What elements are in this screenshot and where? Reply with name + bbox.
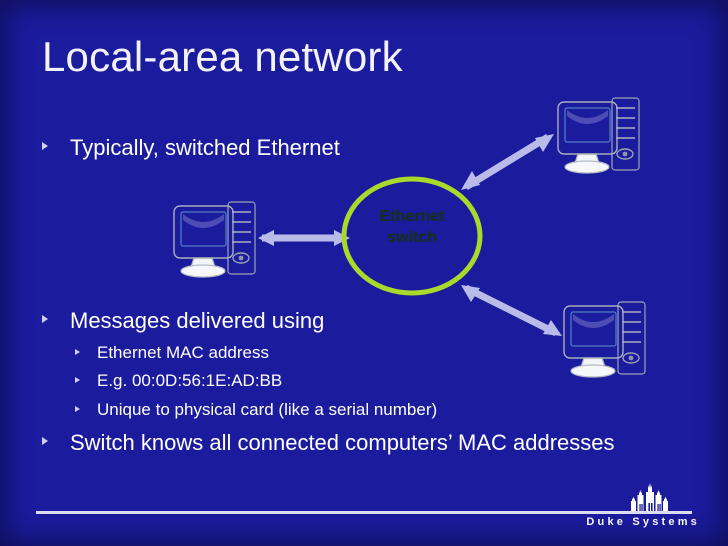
bullet-item: Switch knows all connected computers’ MA… bbox=[42, 430, 615, 456]
link-switch-bottom-right-computer bbox=[461, 285, 562, 336]
bullet-marker-icon bbox=[75, 349, 80, 355]
bullet-text: Switch knows all connected computers’ MA… bbox=[70, 430, 615, 456]
link-left-computer-switch bbox=[258, 230, 350, 246]
network-diagram bbox=[0, 0, 728, 546]
bullet-text: Typically, switched Ethernet bbox=[70, 135, 340, 161]
computer-left-icon bbox=[174, 202, 255, 277]
footer-brand-text: Duke Systems bbox=[586, 516, 700, 528]
slide: Local-area network bbox=[0, 0, 728, 546]
switch-label-line1: Ethernet bbox=[348, 206, 476, 227]
computer-bottom-right-icon bbox=[564, 302, 645, 377]
sub-bullet-text: E.g. 00:0D:56:1E:AD:BB bbox=[97, 371, 282, 391]
sub-bullet-item: Unique to physical card (like a serial n… bbox=[75, 400, 437, 420]
bullet-text: Messages delivered using bbox=[70, 308, 324, 334]
bullet-marker-icon bbox=[42, 315, 48, 323]
sub-bullet-item: E.g. 00:0D:56:1E:AD:BB bbox=[75, 371, 282, 391]
sub-bullet-item: Ethernet MAC address bbox=[75, 343, 269, 363]
bullet-marker-icon bbox=[42, 142, 48, 150]
page-title: Local-area network bbox=[42, 33, 403, 81]
computer-top-right-icon bbox=[558, 98, 639, 173]
sub-bullet-text: Unique to physical card (like a serial n… bbox=[97, 400, 437, 420]
switch-label-line2: switch bbox=[348, 227, 476, 248]
ethernet-switch-label: Ethernet switch bbox=[348, 206, 476, 248]
link-switch-top-right-computer bbox=[461, 134, 554, 190]
bullet-marker-icon bbox=[75, 377, 80, 383]
footer-divider bbox=[36, 511, 692, 514]
duke-chapel-icon bbox=[628, 483, 672, 513]
bullet-marker-icon bbox=[42, 437, 48, 445]
sub-bullet-text: Ethernet MAC address bbox=[97, 343, 269, 363]
bullet-marker-icon bbox=[75, 406, 80, 412]
bullet-item: Messages delivered using bbox=[42, 308, 324, 334]
bullet-item: Typically, switched Ethernet bbox=[42, 135, 340, 161]
